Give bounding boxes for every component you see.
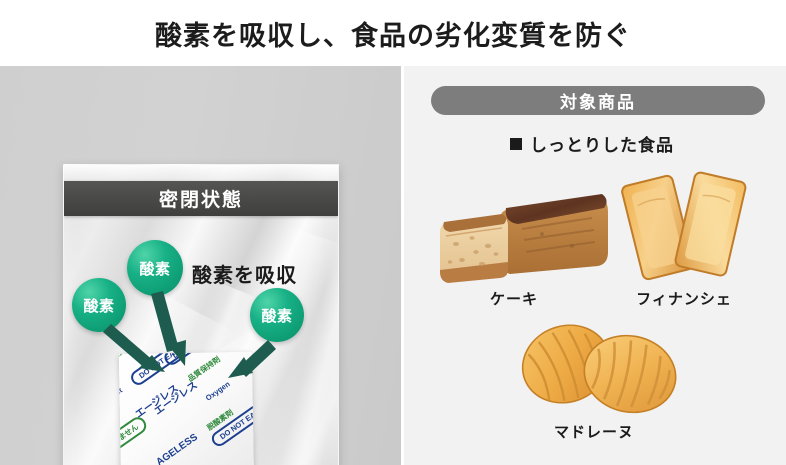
target-products-panel: 対象商品 しっとりした食品	[404, 66, 786, 465]
financier-icon	[616, 170, 756, 285]
sachet-brand-ageless: AGELESS	[154, 432, 199, 465]
moist-foods-label: しっとりした食品	[530, 136, 674, 155]
product-label-madeleine: マドレーヌ	[509, 421, 679, 442]
seal-state-label: 密閉状態	[64, 181, 338, 216]
sachet-mark-absorbent: Absorbent	[119, 386, 124, 415]
absorb-oxygen-label: 酸素を吸収	[192, 259, 297, 288]
sachet-pill-jp: 食べられません	[119, 414, 150, 465]
oxygen-bubble-1: 酸素	[72, 278, 126, 332]
pound-cake-icon	[432, 174, 612, 284]
moist-foods-subheading: しっとりした食品	[510, 131, 674, 156]
sealed-bag-panel: 密閉状態 脱酸素剤 NGC AGE DO NOT EAT 食べられません Abs…	[0, 66, 401, 465]
square-bullet-icon	[510, 138, 522, 150]
product-label-cake: ケーキ	[454, 288, 574, 309]
infographic-page: 酸素を吸収し、食品の劣化変質を防ぐ 密閉状態 脱酸素剤 NGC AGE DO	[0, 0, 786, 465]
product-label-financier: フィナンシェ	[609, 288, 759, 309]
page-title: 酸素を吸収し、食品の劣化変質を防ぐ	[0, 0, 786, 66]
madeleine-icon	[504, 314, 694, 422]
oxygen-bubble-3: 酸素	[250, 288, 304, 342]
oxygen-bubble-2: 酸素	[127, 240, 183, 296]
sachet-print-pattern: 脱酸素剤 NGC AGE DO NOT EAT 食べられません Absorben…	[119, 352, 254, 465]
bag-top-edge	[64, 165, 338, 181]
target-products-heading: 対象商品	[431, 86, 765, 115]
oxygen-absorber-sachet: 脱酸素剤 NGC AGE DO NOT EAT 食べられません Absorben…	[119, 352, 254, 465]
sachet-mark-oxygen: Oxygen	[204, 379, 232, 402]
sachet-mark-jp: 脱酸素剤	[119, 352, 124, 373]
